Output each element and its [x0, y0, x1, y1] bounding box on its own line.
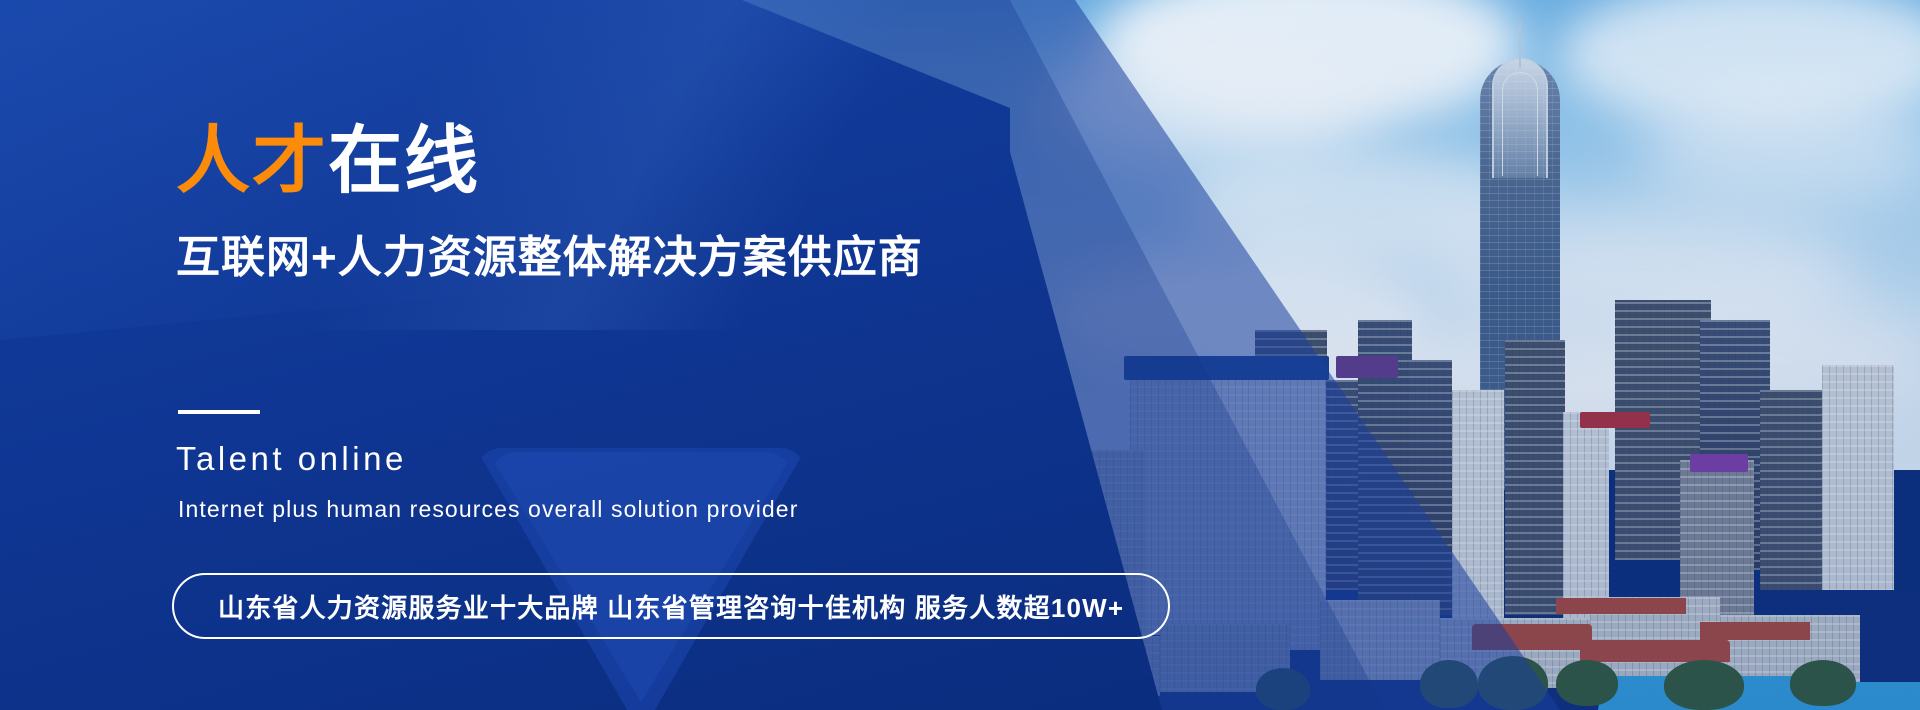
english-headline: Talent online [176, 440, 407, 478]
hero-banner: 人才在线 互联网+人力资源整体解决方案供应商 Talent online Int… [0, 0, 1920, 710]
title-white-part: 在线 [328, 119, 480, 202]
banner-content: 人才在线 互联网+人力资源整体解决方案供应商 Talent online Int… [0, 0, 1920, 710]
title-orange-part: 人才 [176, 119, 328, 202]
page-subtitle: 互联网+人力资源整体解决方案供应商 [176, 232, 923, 285]
badges-pill-text: 山东省人力资源服务业十大品牌 山东省管理咨询十佳机构 服务人数超10W+ [218, 588, 1124, 625]
english-subline: Internet plus human resources overall so… [178, 496, 798, 523]
badges-pill: 山东省人力资源服务业十大品牌 山东省管理咨询十佳机构 服务人数超10W+ [172, 573, 1170, 639]
divider-rule [178, 410, 260, 414]
page-title: 人才在线 [176, 124, 480, 198]
